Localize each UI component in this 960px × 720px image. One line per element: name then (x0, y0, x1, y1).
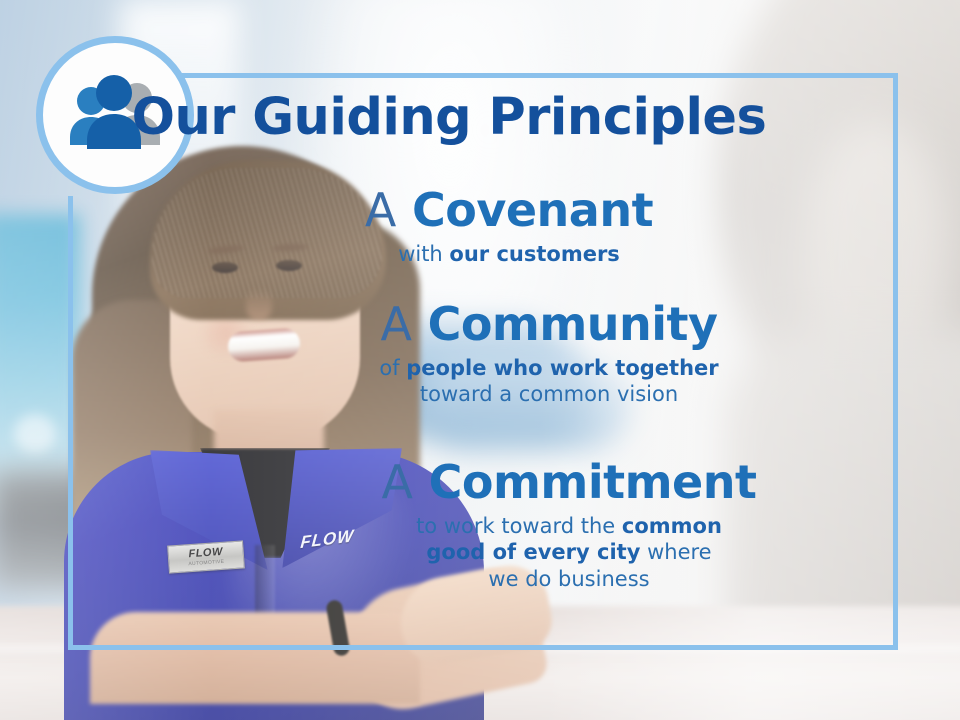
principle-commitment: A Commitment to work toward the common g… (240, 458, 898, 591)
page-title: Our Guiding Principles (0, 92, 898, 143)
frame-border-left (68, 196, 73, 650)
subline-segment-bold: our customers (449, 242, 619, 266)
principle-community: A Community of people who work together … (200, 300, 898, 406)
principle-article: A (380, 297, 412, 351)
frame-border-bottom (68, 645, 898, 650)
principle-subline: toward a common vision (200, 383, 898, 406)
principle-subline: we do business (240, 568, 898, 591)
subline-segment-bold: people who work together (406, 356, 718, 380)
principle-word: Covenant (412, 183, 653, 237)
principle-subline: to work toward the common (240, 515, 898, 538)
subline-segment: of (379, 356, 406, 380)
subline-segment: we do business (488, 567, 649, 591)
principle-covenant: A Covenant with our customers (120, 186, 898, 265)
subline-segment: toward a common vision (420, 382, 678, 406)
subline-segment: with (398, 242, 449, 266)
frame-border-top (152, 73, 898, 78)
principle-subline: with our customers (120, 243, 898, 266)
subject-arm-left (90, 612, 420, 704)
principle-heading: A Community (200, 300, 898, 350)
subline-segment-bold: good of every city (426, 540, 640, 564)
employee-name-badge: FLOW AUTOMOTIVE (167, 540, 245, 573)
subline-segment: to work toward the (416, 514, 622, 538)
guiding-principles-graphic: FLOW AUTOMOTIVE FLOW (0, 0, 960, 720)
principle-word: Community (428, 297, 718, 351)
principle-subline: good of every city where (240, 541, 898, 564)
principle-heading: A Commitment (240, 458, 898, 508)
principle-article: A (365, 183, 397, 237)
principle-heading: A Covenant (120, 186, 898, 236)
subline-segment: where (640, 540, 711, 564)
principle-word: Commitment (429, 455, 757, 509)
principle-subline: of people who work together (200, 357, 898, 380)
principle-article: A (382, 455, 414, 509)
subline-segment-bold: common (622, 514, 722, 538)
